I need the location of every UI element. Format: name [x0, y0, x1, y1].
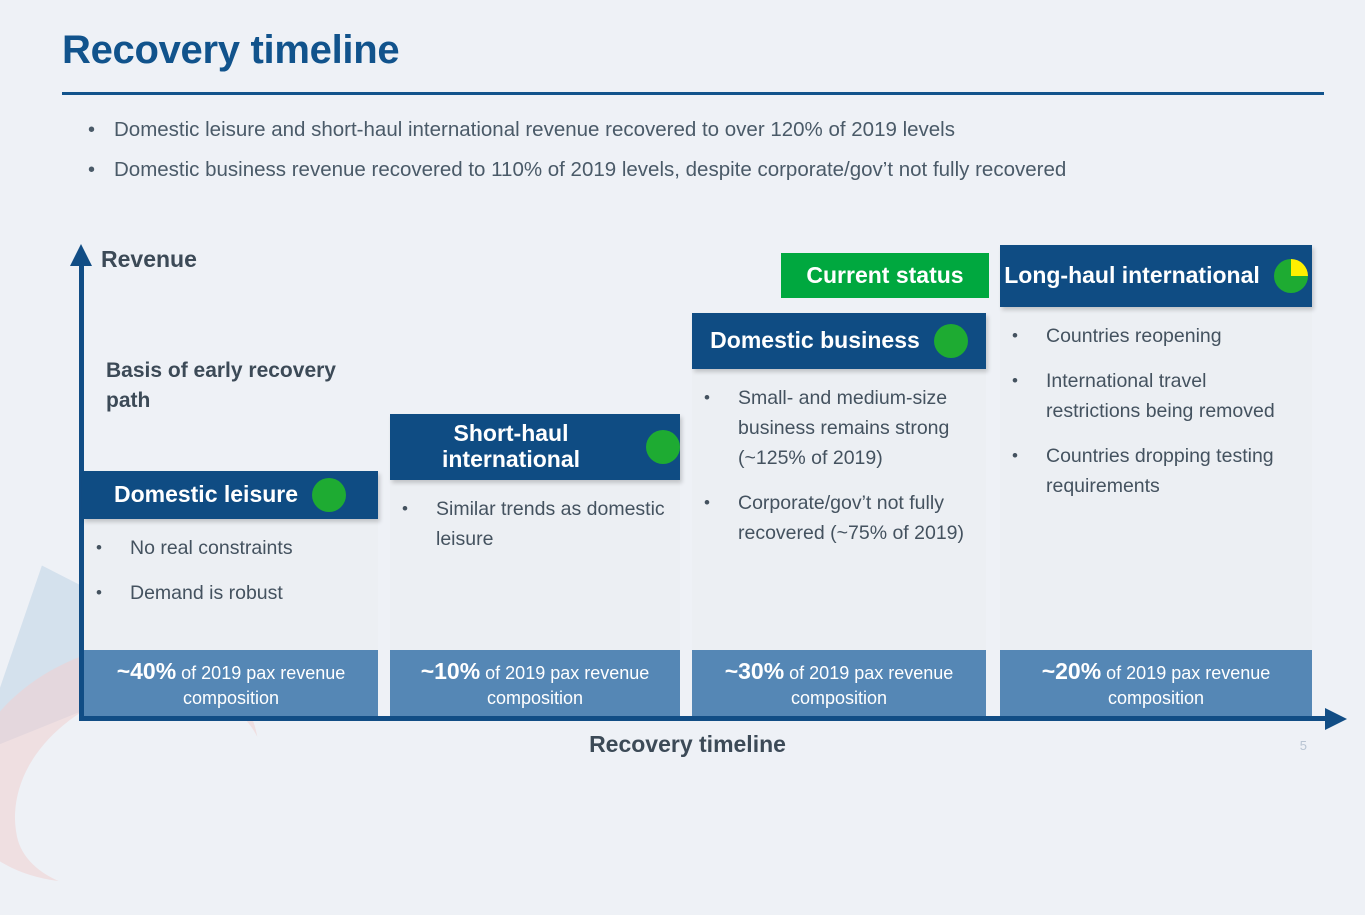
- page-number: 5: [1300, 738, 1307, 753]
- stage-title: Domestic leisure: [114, 482, 298, 508]
- summary-bullet-text: Domestic business revenue recovered to 1…: [114, 150, 1066, 190]
- summary-bullet-list: • Domestic leisure and short-haul intern…: [88, 110, 1338, 190]
- stage-card-domestic-business[interactable]: Domestic business • Small- and medium-si…: [692, 313, 986, 721]
- stage-footer-value: ~30%: [725, 658, 784, 684]
- stage-card-body: • Small- and medium-size business remain…: [692, 369, 986, 650]
- stage-title: Short-haul international: [390, 421, 632, 473]
- stage-card-domestic-leisure[interactable]: Domestic leisure • No real constraints •…: [84, 471, 378, 721]
- list-item: • Similar trends as domestic leisure: [402, 494, 668, 554]
- bullet-marker-icon: •: [1012, 366, 1046, 396]
- summary-bullet-text: Domestic leisure and short-haul internat…: [114, 110, 955, 150]
- bullet-marker-icon: •: [96, 578, 130, 608]
- stage-card-body: • Similar trends as domestic leisure: [390, 480, 680, 650]
- list-item: • Countries dropping testing requirement…: [1012, 441, 1300, 501]
- x-axis-label-text: Recovery timeline: [589, 731, 786, 757]
- page-title: Recovery timeline: [62, 28, 399, 73]
- x-axis-arrow-icon: [1325, 708, 1347, 730]
- stage-footer: ~40% of 2019 pax revenue composition: [84, 650, 378, 721]
- list-item-text: Countries dropping testing requirements: [1046, 441, 1300, 501]
- x-axis-line: [79, 716, 1327, 721]
- list-item: • Demand is robust: [96, 578, 366, 608]
- list-item: • Countries reopening: [1012, 321, 1300, 351]
- stage-card-short-haul-international[interactable]: Short-haul international • Similar trend…: [390, 414, 680, 721]
- x-axis-label: Recovery timeline: [0, 731, 1365, 758]
- green-yellow-pie-icon: [1274, 259, 1308, 293]
- bullet-marker-icon: •: [704, 488, 738, 518]
- early-recovery-note: Basis of early recovery path: [106, 356, 336, 416]
- summary-bullet: • Domestic leisure and short-haul intern…: [88, 110, 1338, 150]
- stage-card-body: • No real constraints • Demand is robust: [84, 519, 378, 650]
- stage-bullet-list: • No real constraints • Demand is robust: [96, 533, 366, 608]
- stage-title: Domestic business: [710, 328, 920, 354]
- list-item-text: Corporate/gov’t not fully recovered (~75…: [738, 488, 974, 548]
- stage-footer: ~30% of 2019 pax revenue composition: [692, 650, 986, 721]
- stage-bullet-list: • Small- and medium-size business remain…: [704, 383, 974, 548]
- bullet-marker-icon: •: [704, 383, 738, 413]
- list-item-text: Small- and medium-size business remains …: [738, 383, 974, 473]
- list-item: • Corporate/gov’t not fully recovered (~…: [704, 488, 974, 548]
- stage-footer: ~20% of 2019 pax revenue composition: [1000, 650, 1312, 721]
- list-item: • International travel restrictions bein…: [1012, 366, 1300, 426]
- green-dot-icon: [646, 430, 680, 464]
- stage-footer-text: of 2019 pax revenue composition: [480, 663, 649, 708]
- list-item-text: International travel restrictions being …: [1046, 366, 1300, 426]
- green-dot-icon: [312, 478, 346, 512]
- list-item-text: Similar trends as domestic leisure: [436, 494, 668, 554]
- stage-card-body: • Countries reopening • International tr…: [1000, 307, 1312, 650]
- stage-footer-value: ~20%: [1042, 658, 1101, 684]
- stage-footer-value: ~40%: [117, 658, 176, 684]
- summary-bullet: • Domestic business revenue recovered to…: [88, 150, 1338, 190]
- bullet-marker-icon: •: [1012, 441, 1046, 471]
- stage-footer: ~10% of 2019 pax revenue composition: [390, 650, 680, 721]
- bullet-marker-icon: •: [96, 533, 130, 563]
- bullet-marker-icon: •: [88, 110, 114, 150]
- y-axis-arrow-icon: [70, 244, 92, 266]
- bullet-marker-icon: •: [1012, 321, 1046, 351]
- stage-card-long-haul-international[interactable]: Long-haul international • Countries reop…: [1000, 245, 1312, 721]
- green-dot-icon: [934, 324, 968, 358]
- stage-card-header: Short-haul international: [390, 414, 680, 480]
- bullet-marker-icon: •: [402, 494, 436, 524]
- stage-bullet-list: • Similar trends as domestic leisure: [402, 494, 668, 554]
- title-divider: [62, 92, 1324, 95]
- stage-footer-text: of 2019 pax revenue composition: [1101, 663, 1270, 708]
- stage-footer-text: of 2019 pax revenue composition: [784, 663, 953, 708]
- stage-card-header: Domestic business: [692, 313, 986, 369]
- list-item-text: Demand is robust: [130, 578, 283, 608]
- bullet-marker-icon: •: [88, 150, 114, 190]
- stage-footer-text: of 2019 pax revenue composition: [176, 663, 345, 708]
- stage-card-header: Domestic leisure: [82, 471, 378, 519]
- list-item-text: Countries reopening: [1046, 321, 1222, 351]
- current-status-badge: Current status: [781, 253, 989, 298]
- stage-footer-value: ~10%: [421, 658, 480, 684]
- list-item: • No real constraints: [96, 533, 366, 563]
- stage-card-header: Long-haul international: [1000, 245, 1312, 307]
- list-item: • Small- and medium-size business remain…: [704, 383, 974, 473]
- y-axis-label: Revenue: [101, 246, 197, 273]
- stage-bullet-list: • Countries reopening • International tr…: [1012, 321, 1300, 501]
- stage-title: Long-haul international: [1004, 263, 1260, 289]
- list-item-text: No real constraints: [130, 533, 293, 563]
